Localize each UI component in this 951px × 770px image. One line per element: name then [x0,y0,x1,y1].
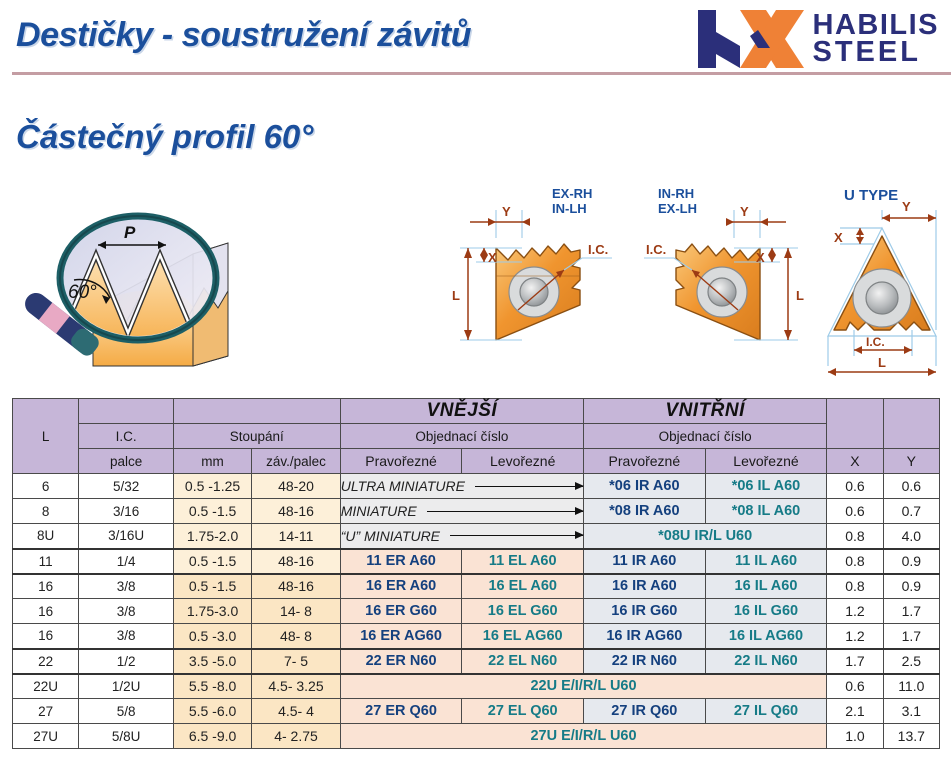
cell-ext-right-hand-code: 27 ER Q60 [340,699,462,724]
cell-pitch-mm: 1.75-3.0 [173,599,251,624]
col-header-ic: I.C. [79,424,174,449]
cell-ext-left-hand-code: 16 EL A60 [462,574,584,599]
arrow-right-icon [427,511,583,512]
cell-y-value: 2.5 [883,649,939,674]
cell-l: 16 [13,599,79,624]
catalog-page: Destičky - soustružení závitů HABILIS ST… [0,0,951,770]
insert-a-x-label: X [488,250,497,265]
table-body: 65/320.5 -1.2548-20ULTRA MINIATURE*06 IR… [13,474,940,749]
insert-b-y-label: Y [740,204,749,219]
cell-l: 6 [13,474,79,499]
col-header-ext-rh: Pravořezné [340,449,462,474]
cell-x-value: 0.6 [827,499,883,524]
col-header-internal: VNITŘNÍ [584,399,827,424]
cell-l: 11 [13,549,79,574]
section-title: Částečný profil 60° [16,118,313,156]
cell-ic: 1/2 [79,649,174,674]
col-header-y-spacer [883,399,939,449]
cell-x-value: 1.0 [827,724,883,749]
insert-dimension-diagrams: EX-RH IN-LH L [430,180,940,385]
cell-ic: 3/16 [79,499,174,524]
table-row: 275/85.5 -6.04.5- 427 ER Q6027 EL Q6027 … [13,699,940,724]
cell-series-note: MINIATURE [340,499,583,524]
insert-u-l-label: L [878,355,886,370]
cell-ext-right-hand-code: 16 ER A60 [340,574,462,599]
cell-pitch-tpi: 7- 5 [252,649,340,674]
cell-pitch-tpi: 48-16 [252,499,340,524]
insert-b-ic-label: I.C. [646,242,666,257]
cell-l: 8 [13,499,79,524]
cell-ext-left-hand-code: 22 EL N60 [462,649,584,674]
cell-pitch-tpi: 14-11 [252,524,340,549]
cell-int-universal-code: *08U IR/L U60 [584,524,827,549]
table-row: 27U5/8U6.5 -9.04- 2.7527U E/I/R/L U601.0… [13,724,940,749]
cell-ic: 5/8U [79,724,174,749]
cell-x-value: 0.8 [827,524,883,549]
cell-ext-left-hand-code: 11 EL A60 [462,549,584,574]
illustration-band: P 60° [0,180,951,390]
cell-l: 27 [13,699,79,724]
cell-l: 16 [13,624,79,649]
cell-pitch-tpi: 4- 2.75 [252,724,340,749]
thread-profile-magnifier-illustration: P 60° [18,188,308,383]
table-header: L VNĚJŠÍ VNITŘNÍ I.C. Stoupání Objednací… [13,399,940,474]
insert-b-l-label: L [796,288,804,303]
cell-l: 22U [13,674,79,699]
cell-x-value: 1.2 [827,624,883,649]
logo-text-line2: STEEL [813,39,940,66]
cell-int-left-hand-code: 16 IL A60 [705,574,827,599]
cell-int-right-hand-code: *06 IR A60 [584,474,706,499]
cell-int-right-hand-code: 11 IR A60 [584,549,706,574]
cell-ic: 5/8 [79,699,174,724]
cell-pitch-mm: 5.5 -8.0 [173,674,251,699]
header-row-1: L VNĚJŠÍ VNITŘNÍ [13,399,940,424]
cell-ext-right-hand-code: 16 ER G60 [340,599,462,624]
cell-pitch-tpi: 4.5- 3.25 [252,674,340,699]
col-header-x: X [827,449,883,474]
col-header-x-spacer [827,399,883,449]
cell-x-value: 0.6 [827,674,883,699]
cell-int-right-hand-code: 27 IR Q60 [584,699,706,724]
cell-ic: 1/4 [79,549,174,574]
cell-x-value: 1.2 [827,599,883,624]
insert-a-ic-label: I.C. [588,242,608,257]
cell-ext-left-hand-code: 27 EL Q60 [462,699,584,724]
col-header-ic-spacer [79,399,174,424]
cell-int-right-hand-code: 22 IR N60 [584,649,706,674]
cell-y-value: 1.7 [883,624,939,649]
cell-pitch-tpi: 48- 8 [252,624,340,649]
insert-u-x-label: X [834,230,843,245]
cell-universal-code: 22U E/I/R/L U60 [340,674,827,699]
cell-y-value: 0.9 [883,574,939,599]
cell-int-right-hand-code: 16 IR AG60 [584,624,706,649]
cell-ic: 5/32 [79,474,174,499]
col-header-order-no-int: Objednací číslo [584,424,827,449]
table-row: 163/80.5 -1.548-1616 ER A6016 EL A6016 I… [13,574,940,599]
pitch-label: P [124,223,136,242]
insert-a-y-label: Y [502,204,511,219]
arrow-right-icon [475,486,583,487]
insert-a-title-line1: EX-RH [552,186,592,201]
table-row: 83/160.5 -1.548-16MINIATURE*08 IR A60*08… [13,499,940,524]
col-header-external: VNĚJŠÍ [340,399,583,424]
cell-pitch-mm: 0.5 -1.5 [173,549,251,574]
habilis-logo-icon [696,6,806,72]
cell-pitch-mm: 1.75-2.0 [173,524,251,549]
insert-u-title: U TYPE [844,187,898,204]
cell-ext-left-hand-code: 16 EL G60 [462,599,584,624]
cell-y-value: 0.6 [883,474,939,499]
cell-x-value: 0.8 [827,574,883,599]
cell-ic: 3/8 [79,574,174,599]
page-title: Destičky - soustružení závitů [16,16,471,55]
cell-pitch-mm: 0.5 -1.25 [173,474,251,499]
table-row: 221/23.5 -5.07- 522 ER N6022 EL N6022 IR… [13,649,940,674]
specification-table: L VNĚJŠÍ VNITŘNÍ I.C. Stoupání Objednací… [12,398,940,749]
insert-a-title-line2: IN-LH [552,201,587,216]
cell-ic: 3/8 [79,599,174,624]
table-row: 22U1/2U5.5 -8.04.5- 3.2522U E/I/R/L U600… [13,674,940,699]
cell-pitch-tpi: 48-20 [252,474,340,499]
cell-ic: 3/16U [79,524,174,549]
col-header-l: L [13,399,79,474]
cell-l: 27U [13,724,79,749]
cell-int-left-hand-code: 11 IL A60 [705,549,827,574]
col-header-int-lh: Levořezné [705,449,827,474]
col-header-int-rh: Pravořezné [584,449,706,474]
series-note-label: ULTRA MINIATURE [341,478,475,494]
cell-int-left-hand-code: *08 IL A60 [705,499,827,524]
cell-pitch-mm: 0.5 -3.0 [173,624,251,649]
cell-l: 16 [13,574,79,599]
cell-pitch-tpi: 48-16 [252,574,340,599]
cell-ext-right-hand-code: 11 ER A60 [340,549,462,574]
cell-y-value: 3.1 [883,699,939,724]
cell-x-value: 0.8 [827,549,883,574]
cell-x-value: 1.7 [827,649,883,674]
cell-ext-right-hand-code: 22 ER N60 [340,649,462,674]
cell-pitch-mm: 0.5 -1.5 [173,574,251,599]
cell-y-value: 13.7 [883,724,939,749]
insert-b-title-line1: IN-RH [658,186,694,201]
cell-int-right-hand-code: 16 IR A60 [584,574,706,599]
arrow-right-icon [450,535,583,536]
cell-pitch-tpi: 14- 8 [252,599,340,624]
cell-int-left-hand-code: *06 IL A60 [705,474,827,499]
cell-int-left-hand-code: 27 IL Q60 [705,699,827,724]
angle-label: 60° [68,282,97,303]
table-row: 111/40.5 -1.548-1611 ER A6011 EL A6011 I… [13,549,940,574]
cell-pitch-mm: 3.5 -5.0 [173,649,251,674]
insert-u-shape [834,236,930,330]
insert-b-title-line2: EX-LH [658,201,697,216]
series-note-label: MINIATURE [341,503,427,519]
cell-pitch-tpi: 4.5- 4 [252,699,340,724]
cell-int-left-hand-code: 16 IL AG60 [705,624,827,649]
cell-ic: 3/8 [79,624,174,649]
insert-u-ic-label: I.C. [866,335,885,349]
cell-series-note: “U” MINIATURE [340,524,583,549]
cell-int-left-hand-code: 16 IL G60 [705,599,827,624]
col-header-pitch-spacer [173,399,340,424]
cell-ext-right-hand-code: 16 ER AG60 [340,624,462,649]
company-logo: HABILIS STEEL [696,6,940,72]
cell-universal-code: 27U E/I/R/L U60 [340,724,827,749]
cell-ic: 1/2U [79,674,174,699]
page-header: Destičky - soustružení závitů HABILIS ST… [0,0,951,92]
header-divider [12,72,951,75]
cell-series-note: ULTRA MINIATURE [340,474,583,499]
cell-l: 8U [13,524,79,549]
series-note-label: “U” MINIATURE [341,528,450,544]
cell-pitch-tpi: 48-16 [252,549,340,574]
col-header-pitch-mm: mm [173,449,251,474]
cell-y-value: 1.7 [883,599,939,624]
cell-l: 22 [13,649,79,674]
insert-u-y-label: Y [902,199,911,214]
cell-y-value: 0.7 [883,499,939,524]
specification-table-wrapper: L VNĚJŠÍ VNITŘNÍ I.C. Stoupání Objednací… [12,398,940,749]
col-header-order-no-ext: Objednací číslo [340,424,583,449]
col-header-ext-lh: Levořezné [462,449,584,474]
col-header-pitch-tpi: záv./palec [252,449,340,474]
cell-ext-left-hand-code: 16 EL AG60 [462,624,584,649]
cell-pitch-mm: 6.5 -9.0 [173,724,251,749]
cell-y-value: 11.0 [883,674,939,699]
logo-text-line1: HABILIS [813,12,940,39]
col-header-ic-unit: palce [79,449,174,474]
cell-int-right-hand-code: 16 IR G60 [584,599,706,624]
header-row-3: palce mm záv./palec Pravořezné Levořezné… [13,449,940,474]
insert-a-l-label: L [452,288,460,303]
insert-b-x-label: X [756,250,765,265]
cell-int-left-hand-code: 22 IL N60 [705,649,827,674]
cell-int-right-hand-code: *08 IR A60 [584,499,706,524]
cell-y-value: 0.9 [883,549,939,574]
table-row: 8U3/16U1.75-2.014-11“U” MINIATURE*08U IR… [13,524,940,549]
table-row: 65/320.5 -1.2548-20ULTRA MINIATURE*06 IR… [13,474,940,499]
cell-pitch-mm: 5.5 -6.0 [173,699,251,724]
cell-pitch-mm: 0.5 -1.5 [173,499,251,524]
cell-x-value: 0.6 [827,474,883,499]
table-row: 163/81.75-3.014- 816 ER G6016 EL G6016 I… [13,599,940,624]
cell-y-value: 4.0 [883,524,939,549]
cell-x-value: 2.1 [827,699,883,724]
table-row: 163/80.5 -3.048- 816 ER AG6016 EL AG6016… [13,624,940,649]
header-row-2: I.C. Stoupání Objednací číslo Objednací … [13,424,940,449]
col-header-pitch: Stoupání [173,424,340,449]
col-header-y: Y [883,449,939,474]
